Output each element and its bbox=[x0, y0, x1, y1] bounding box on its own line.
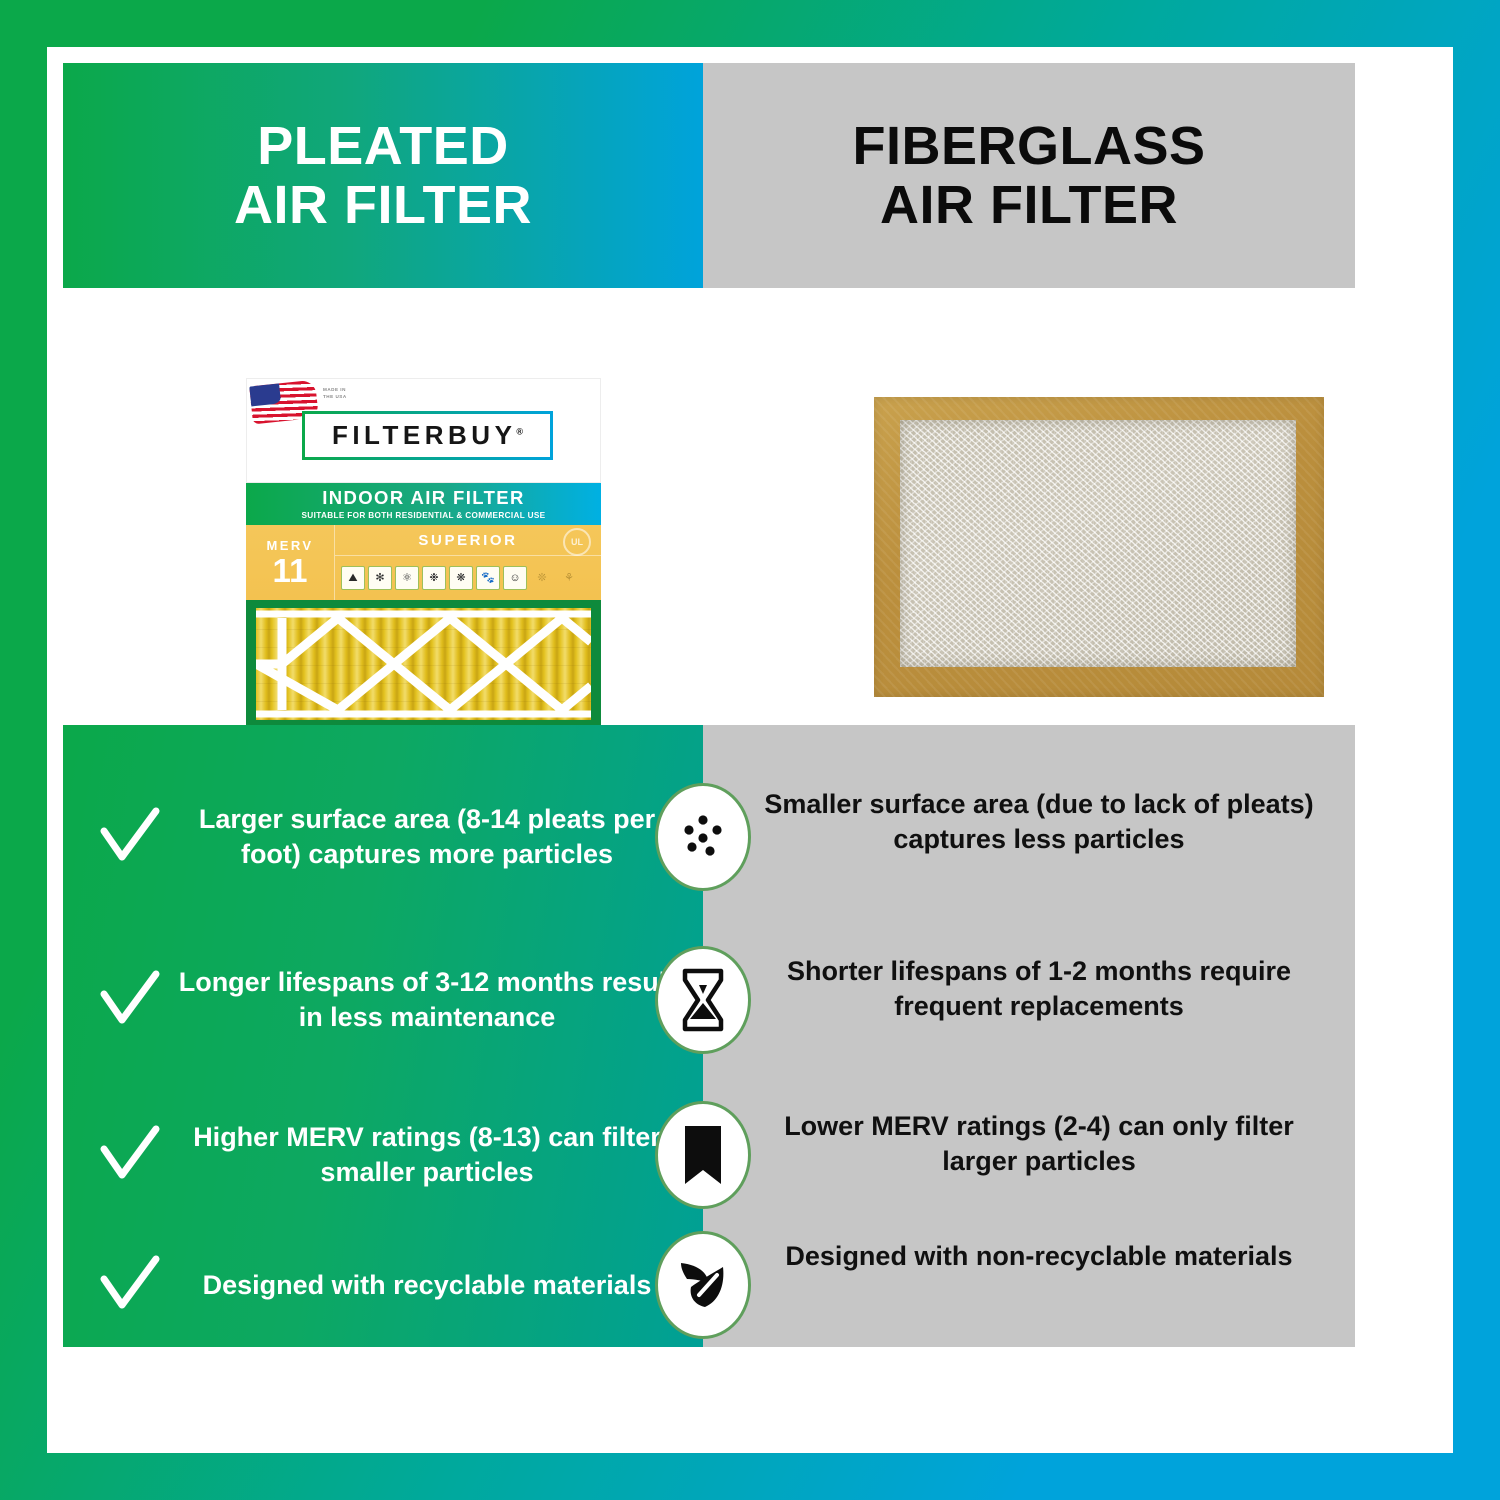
comparison-rows: Larger surface area (8-14 pleats per foo… bbox=[63, 725, 1355, 1347]
pet-dander-icon: 🐾 bbox=[476, 566, 500, 590]
check-icon bbox=[93, 968, 167, 1032]
row-left-3: Higher MERV ratings (8-13) can filter sm… bbox=[63, 1120, 703, 1189]
header-pleated-line2: AIR FILTER bbox=[234, 176, 532, 234]
row-left-1: Larger surface area (8-14 pleats per foo… bbox=[63, 802, 703, 871]
row-icon-2 bbox=[655, 946, 751, 1054]
dust-icon: ⛰ bbox=[341, 566, 365, 590]
ul-certification-icon: UL bbox=[563, 528, 591, 556]
hourglass-icon bbox=[655, 946, 751, 1054]
tier-row: SUPERIOR UL bbox=[335, 525, 601, 556]
row-left-text-2: Longer lifespans of 3-12 months result i… bbox=[167, 965, 703, 1034]
row-right-text-2: Shorter lifespans of 1-2 months require … bbox=[715, 954, 1363, 1023]
product-images-row: MADE INTHE USA FILTERBUY® INDOOR AIR FIL… bbox=[63, 288, 1355, 725]
mold-icon: ❋ bbox=[449, 566, 473, 590]
comparison-row: Longer lifespans of 3-12 months result i… bbox=[63, 940, 1355, 1060]
insect-icon: ✻ bbox=[368, 566, 392, 590]
bacteria-icon: ❊ bbox=[530, 566, 554, 590]
check-icon bbox=[93, 1123, 167, 1187]
row-right-text-4: Designed with non-recyclable materials bbox=[715, 1239, 1363, 1274]
band-subtitle: SUITABLE FOR BOTH RESIDENTIAL & COMMERCI… bbox=[302, 511, 546, 520]
row-left-text-1: Larger surface area (8-14 pleats per foo… bbox=[167, 802, 703, 871]
header-fiberglass-line1: FIBERGLASS bbox=[852, 116, 1205, 176]
check-icon bbox=[93, 805, 167, 869]
package-indoor-band: INDOOR AIR FILTER SUITABLE FOR BOTH RESI… bbox=[246, 483, 601, 525]
row-left-text-3: Higher MERV ratings (8-13) can filter sm… bbox=[167, 1120, 703, 1189]
registered-mark: ® bbox=[516, 426, 523, 436]
header-pleated: PLEATED AIR FILTER bbox=[63, 63, 703, 288]
header-pleated-title: PLEATED AIR FILTER bbox=[234, 117, 532, 234]
merv-right-panel: SUPERIOR UL ⛰ ✻ ⚛ ❉ ❋ 🐾 ☺ ❊ ⚘ bbox=[335, 525, 601, 600]
band-title: INDOOR AIR FILTER bbox=[322, 488, 525, 508]
pollen-icon: ❉ bbox=[422, 566, 446, 590]
leaf-icon bbox=[655, 1231, 751, 1339]
header-pleated-line1: PLEATED bbox=[257, 116, 509, 176]
odor-icon: ⚘ bbox=[557, 566, 581, 590]
package-pleat-window: FILTERBUY bbox=[246, 600, 601, 745]
fiberglass-mesh bbox=[900, 420, 1296, 667]
smoke-icon: ☺ bbox=[503, 566, 527, 590]
package-merv-panel: MERV 11 SUPERIOR UL ⛰ ✻ ⚛ ❉ ❋ 🐾 ☺ ❊ ⚘ bbox=[246, 525, 601, 600]
merv-value: 11 bbox=[273, 555, 308, 586]
brand-word: FILTERBUY bbox=[332, 420, 516, 450]
comparison-row: Higher MERV ratings (8-13) can filter sm… bbox=[63, 1095, 1355, 1215]
row-left-4: Designed with recyclable materials bbox=[63, 1253, 703, 1317]
support-grid-icon bbox=[256, 608, 591, 720]
comparison-row: Larger surface area (8-14 pleats per foo… bbox=[63, 757, 1355, 917]
row-icon-3 bbox=[655, 1101, 751, 1209]
pleated-filter-package-image: MADE INTHE USA FILTERBUY® INDOOR AIR FIL… bbox=[246, 378, 601, 745]
row-icon-4 bbox=[655, 1231, 751, 1339]
tier-label: SUPERIOR bbox=[418, 532, 517, 549]
header-fiberglass: FIBERGLASS AIR FILTER bbox=[703, 63, 1355, 288]
check-icon bbox=[93, 1253, 167, 1317]
merv-label: MERV bbox=[267, 538, 314, 553]
filterbuy-logo-text: FILTERBUY® bbox=[332, 420, 523, 451]
fiberglass-filter-image bbox=[874, 397, 1324, 697]
comparison-section: Larger surface area (8-14 pleats per foo… bbox=[63, 725, 1355, 1347]
row-left-text-4: Designed with recyclable materials bbox=[167, 1268, 703, 1303]
merv-badge: MERV 11 bbox=[246, 525, 335, 600]
header-fiberglass-line2: AIR FILTER bbox=[852, 176, 1205, 234]
feature-icon-row: ⛰ ✻ ⚛ ❉ ❋ 🐾 ☺ ❊ ⚘ bbox=[335, 556, 601, 600]
made-in-usa-label: MADE INTHE USA bbox=[323, 387, 347, 401]
row-left-2: Longer lifespans of 3-12 months result i… bbox=[63, 965, 703, 1034]
row-right-text-1: Smaller surface area (due to lack of ple… bbox=[715, 787, 1363, 856]
package-header-panel: MADE INTHE USA FILTERBUY® bbox=[246, 378, 601, 483]
header-bar: PLEATED AIR FILTER FIBERGLASS AIR FILTER bbox=[63, 63, 1355, 288]
row-right-text-3: Lower MERV ratings (2-4) can only filter… bbox=[715, 1109, 1363, 1178]
header-fiberglass-title: FIBERGLASS AIR FILTER bbox=[852, 117, 1205, 234]
comparison-row: Designed with recyclable materials Desig… bbox=[63, 1225, 1355, 1345]
particles-icon bbox=[655, 783, 751, 891]
filterbuy-logo: FILTERBUY® bbox=[302, 411, 553, 460]
bookmark-icon bbox=[655, 1101, 751, 1209]
virus-icon: ⚛ bbox=[395, 566, 419, 590]
row-icon-1 bbox=[655, 783, 751, 891]
